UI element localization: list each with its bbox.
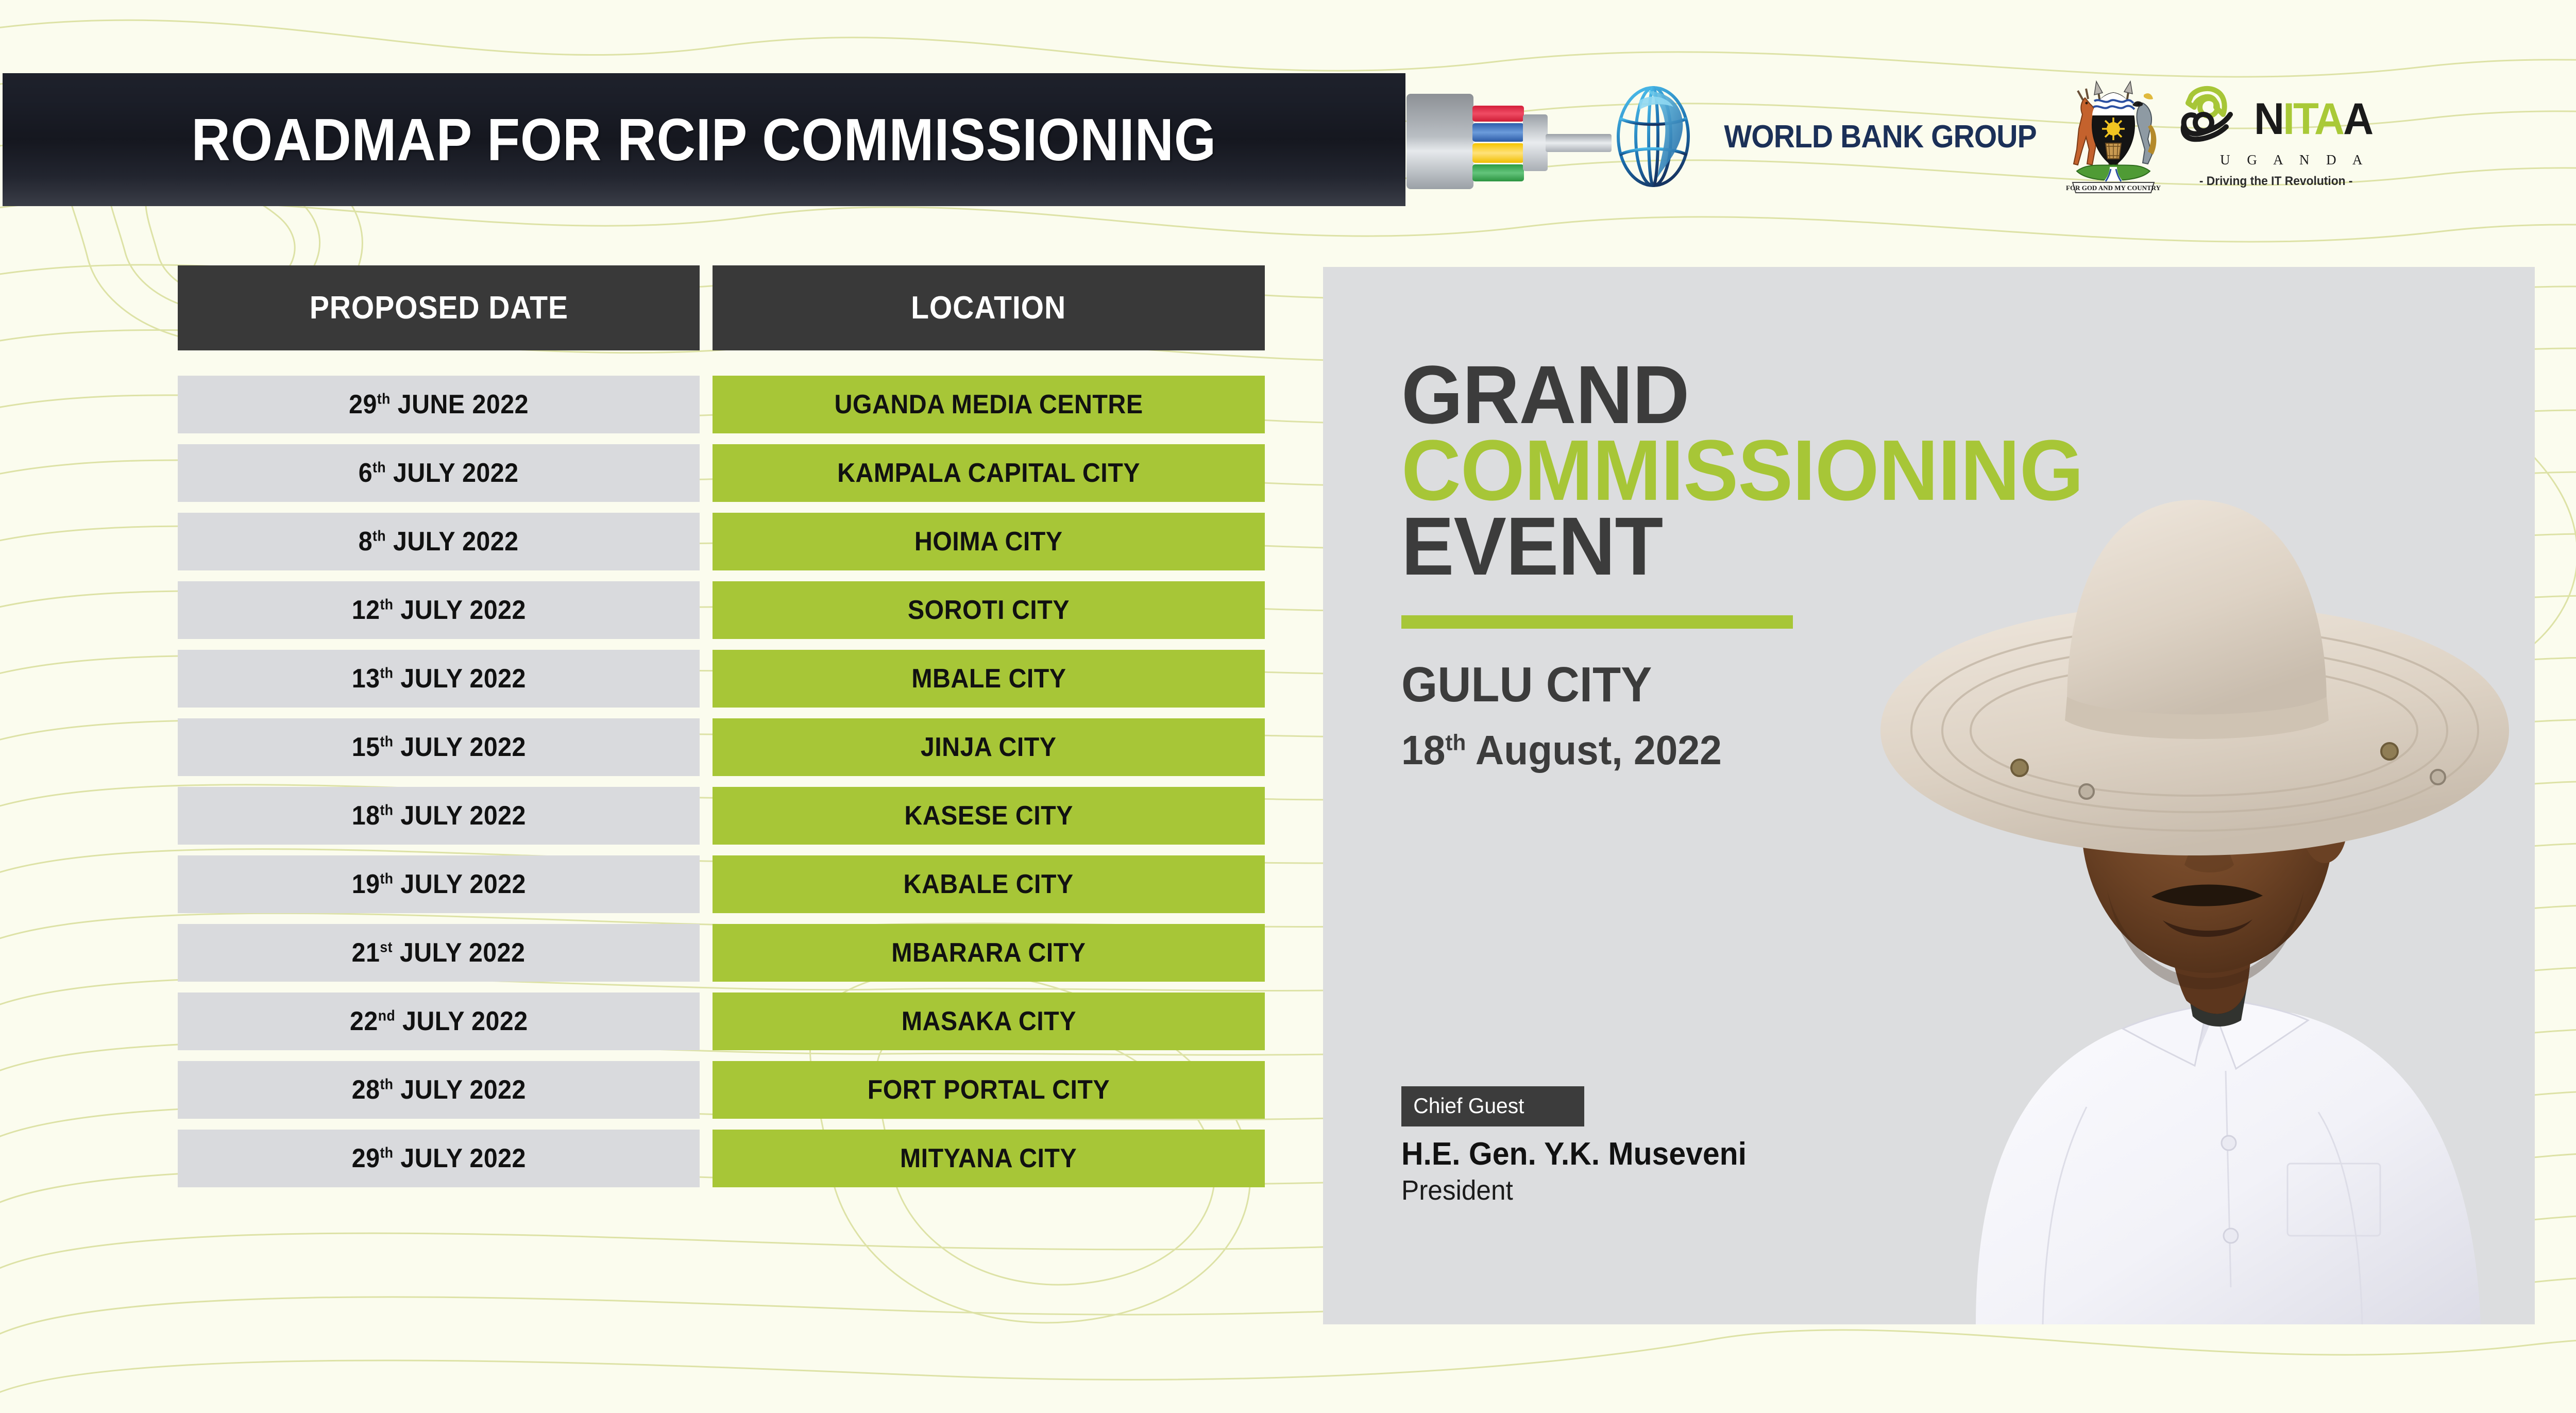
event-line-event: EVENT — [1401, 509, 2094, 583]
table-row: 21st JULY 2022MBARARA CITY — [178, 924, 1265, 982]
table-row: 19th JULY 2022KABALE CITY — [178, 855, 1265, 913]
cell-location: MBALE CITY — [713, 650, 1265, 708]
world-bank-group-label: WORLD BANK GROUP — [1724, 119, 2036, 155]
uganda-coat-of-arms-icon: FOR GOD AND MY COUNTRY — [2065, 77, 2161, 196]
fiber-optic-connector-icon — [1405, 82, 1612, 201]
table-row: 8th JULY 2022HOIMA CITY — [178, 513, 1265, 570]
cell-location-text: JINJA CITY — [921, 732, 1057, 763]
cell-date-text: 8th JULY 2022 — [359, 526, 519, 557]
cell-proposed-date: 12th JULY 2022 — [178, 581, 700, 639]
chief-guest-name: H.E. Gen. Y.K. Museveni — [1401, 1136, 1747, 1172]
cell-location: UGANDA MEDIA CENTRE — [713, 376, 1265, 433]
cell-date-text: 19th JULY 2022 — [351, 869, 526, 900]
cell-location-text: HOIMA CITY — [914, 526, 1063, 557]
cell-location: KASESE CITY — [713, 787, 1265, 845]
world-bank-globe-icon — [1607, 85, 1699, 188]
table-row: 13th JULY 2022MBALE CITY — [178, 650, 1265, 708]
table-body: 29th JUNE 2022UGANDA MEDIA CENTRE6th JUL… — [178, 376, 1265, 1187]
cell-date-text: 21st JULY 2022 — [352, 937, 526, 968]
event-city: GULU CITY — [1401, 657, 2079, 713]
nita-emblem-icon — [2177, 85, 2244, 154]
table-row: 15th JULY 2022JINJA CITY — [178, 718, 1265, 776]
cell-location: MASAKA CITY — [713, 993, 1265, 1050]
world-bank-group-logo: WORLD BANK GROUP — [1607, 85, 2050, 188]
cell-location-text: SOROTI CITY — [908, 595, 1070, 626]
event-line-grand: GRAND — [1401, 358, 2094, 432]
cell-proposed-date: 28th JULY 2022 — [178, 1061, 700, 1119]
cell-location-text: KAMPALA CAPITAL CITY — [837, 458, 1140, 489]
chief-guest-badge: Chief Guest — [1401, 1086, 1584, 1126]
cell-location-text: MASAKA CITY — [901, 1006, 1076, 1037]
cell-date-text: 29th JULY 2022 — [351, 1143, 526, 1174]
cell-proposed-date: 15th JULY 2022 — [178, 718, 700, 776]
cell-proposed-date: 29th JUNE 2022 — [178, 376, 700, 433]
page-title: ROADMAP FOR RCIP COMMISSIONING — [192, 105, 1216, 174]
table-row: 18th JULY 2022KASESE CITY — [178, 787, 1265, 845]
cell-location-text: KASESE CITY — [904, 800, 1073, 831]
header-title-bar: ROADMAP FOR RCIP COMMISSIONING — [3, 73, 1405, 206]
cell-date-text: 13th JULY 2022 — [351, 663, 526, 694]
grand-commissioning-event-panel: GRAND COMMISSIONING EVENT GULU CITY 18th… — [1323, 267, 2535, 1324]
table-row: 28th JULY 2022FORT PORTAL CITY — [178, 1061, 1265, 1119]
green-divider-rule — [1401, 615, 1793, 629]
cell-date-text: 15th JULY 2022 — [351, 732, 526, 763]
nita-uganda-subtitle: U G A N D A — [2220, 152, 2369, 168]
cell-date-text: 18th JULY 2022 — [351, 800, 526, 831]
table-row: 29th JUNE 2022UGANDA MEDIA CENTRE — [178, 376, 1265, 433]
table-row: 22nd JULY 2022MASAKA CITY — [178, 993, 1265, 1050]
column-header-location: LOCATION — [713, 265, 1265, 350]
event-line-commissioning: COMMISSIONING — [1401, 432, 2094, 509]
chief-guest-block: Chief Guest H.E. Gen. Y.K. Museveni Pres… — [1401, 1086, 1765, 1206]
cell-location-text: MBALE CITY — [911, 663, 1066, 694]
cell-proposed-date: 29th JULY 2022 — [178, 1130, 700, 1187]
cell-proposed-date: 8th JULY 2022 — [178, 513, 700, 570]
cell-proposed-date: 13th JULY 2022 — [178, 650, 700, 708]
table-row: 12th JULY 2022SOROTI CITY — [178, 581, 1265, 639]
cell-date-text: 28th JULY 2022 — [351, 1074, 526, 1105]
cell-location: FORT PORTAL CITY — [713, 1061, 1265, 1119]
partner-logo-row: WORLD BANK GROUP — [1607, 67, 2375, 206]
cell-date-text: 6th JULY 2022 — [359, 458, 519, 489]
cell-date-text: 22nd JULY 2022 — [350, 1006, 528, 1037]
nita-uganda-logo: NITAA U G A N D A - Driving the IT Revol… — [2177, 85, 2375, 189]
cell-location-text: KABALE CITY — [904, 869, 1074, 900]
table-header-row: PROPOSED DATE LOCATION — [178, 265, 1265, 350]
cell-proposed-date: 22nd JULY 2022 — [178, 993, 700, 1050]
cell-location: HOIMA CITY — [713, 513, 1265, 570]
chief-guest-title: President — [1401, 1174, 1747, 1206]
nita-tagline: - Driving the IT Revolution - — [2199, 174, 2353, 189]
svg-text:FOR GOD AND MY COUNTRY: FOR GOD AND MY COUNTRY — [2066, 184, 2161, 192]
cell-location: MITYANA CITY — [713, 1130, 1265, 1187]
cell-location-text: FORT PORTAL CITY — [868, 1074, 1110, 1105]
cell-location: SOROTI CITY — [713, 581, 1265, 639]
table-row: 29th JULY 2022MITYANA CITY — [178, 1130, 1265, 1187]
cell-proposed-date: 6th JULY 2022 — [178, 444, 700, 502]
cell-location-text: UGANDA MEDIA CENTRE — [834, 389, 1143, 420]
column-header-proposed-date: PROPOSED DATE — [178, 265, 700, 350]
cell-location: JINJA CITY — [713, 718, 1265, 776]
cell-proposed-date: 19th JULY 2022 — [178, 855, 700, 913]
commissioning-schedule-table: PROPOSED DATE LOCATION 29th JUNE 2022UGA… — [178, 265, 1265, 1198]
table-row: 6th JULY 2022KAMPALA CAPITAL CITY — [178, 444, 1265, 502]
cell-proposed-date: 21st JULY 2022 — [178, 924, 700, 982]
cell-proposed-date: 18th JULY 2022 — [178, 787, 700, 845]
cell-date-text: 12th JULY 2022 — [351, 595, 526, 626]
cell-location: KABALE CITY — [713, 855, 1265, 913]
event-headline-block: GRAND COMMISSIONING EVENT GULU CITY 18th… — [1401, 358, 2123, 774]
cell-location: MBARARA CITY — [713, 924, 1265, 982]
cell-date-text: 29th JUNE 2022 — [349, 389, 529, 420]
cell-location-text: MITYANA CITY — [900, 1143, 1077, 1174]
cell-location: KAMPALA CAPITAL CITY — [713, 444, 1265, 502]
cell-location-text: MBARARA CITY — [891, 937, 1086, 968]
event-date: 18th August, 2022 — [1401, 727, 2094, 774]
nita-wordmark: NITAA — [2254, 98, 2372, 141]
